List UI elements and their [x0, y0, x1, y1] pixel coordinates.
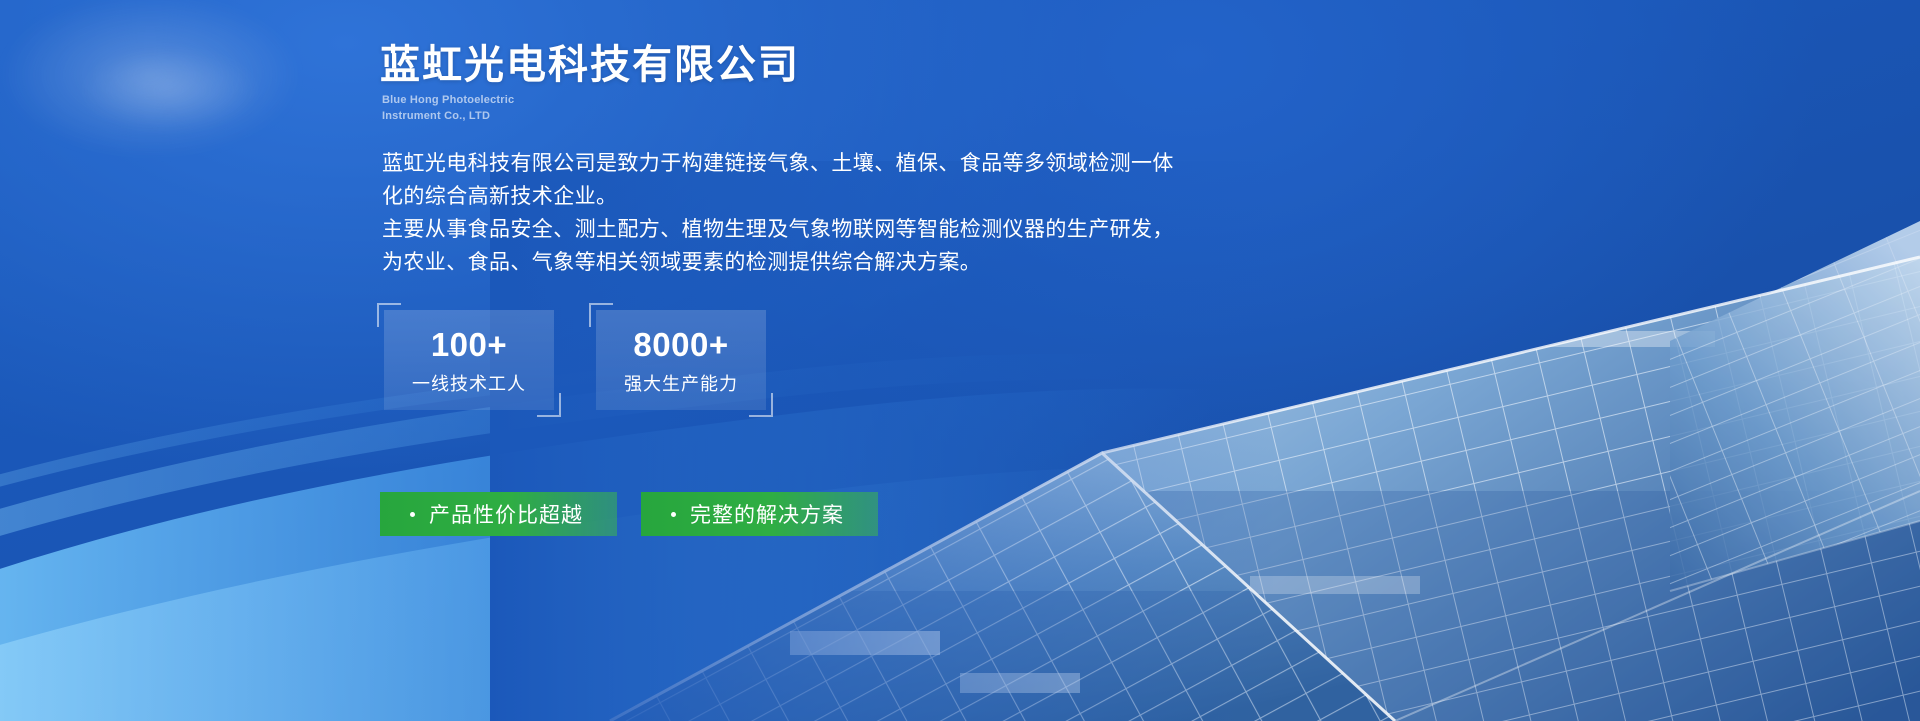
hero-banner: 蓝虹光电科技有限公司 Blue Hong Photoelectric Instr…: [0, 0, 1920, 721]
stat-label: 一线技术工人: [412, 375, 526, 393]
company-name-en: Blue Hong Photoelectric Instrument Co., …: [382, 93, 514, 124]
corner-bracket-top-left-icon: [589, 303, 613, 327]
bullet-dot-icon: [410, 512, 415, 517]
company-name-en-line1: Blue Hong Photoelectric: [382, 93, 514, 109]
hero-content: 蓝虹光电科技有限公司 Blue Hong Photoelectric Instr…: [380, 0, 1580, 721]
company-name-en-line2: Instrument Co., LTD: [382, 109, 514, 125]
cloud-wisp-secondary: [40, 30, 300, 150]
feature-pill-complete-solution[interactable]: 完整的解决方案: [641, 492, 878, 536]
stat-value: 8000+: [633, 328, 728, 361]
stat-card-production-capacity: 8000+ 强大生产能力: [596, 310, 766, 410]
stats-group: 100+ 一线技术工人 8000+ 强大生产能力: [384, 310, 766, 410]
corner-bracket-top-left-icon: [377, 303, 401, 327]
stat-label: 强大生产能力: [624, 375, 738, 393]
corner-bracket-bottom-right-icon: [749, 393, 773, 417]
corner-bracket-bottom-right-icon: [537, 393, 561, 417]
feature-pill-value-for-money[interactable]: 产品性价比超越: [380, 492, 617, 536]
feature-pill-label: 完整的解决方案: [690, 499, 844, 529]
feature-pill-label: 产品性价比超越: [429, 499, 583, 529]
bullet-dot-icon: [671, 512, 676, 517]
stat-value: 100+: [431, 328, 507, 361]
intro-paragraph-2: 主要从事食品安全、测土配方、植物生理及气象物联网等智能检测仪器的生产研发，为农业…: [382, 213, 1182, 279]
stat-card-technicians: 100+ 一线技术工人: [384, 310, 554, 410]
company-name-cn: 蓝虹光电科技有限公司: [380, 40, 800, 90]
feature-pill-group: 产品性价比超越 完整的解决方案: [380, 492, 878, 536]
intro-paragraph-1: 蓝虹光电科技有限公司是致力于构建链接气象、土壤、植保、食品等多领域检测一体化的综…: [382, 147, 1182, 213]
